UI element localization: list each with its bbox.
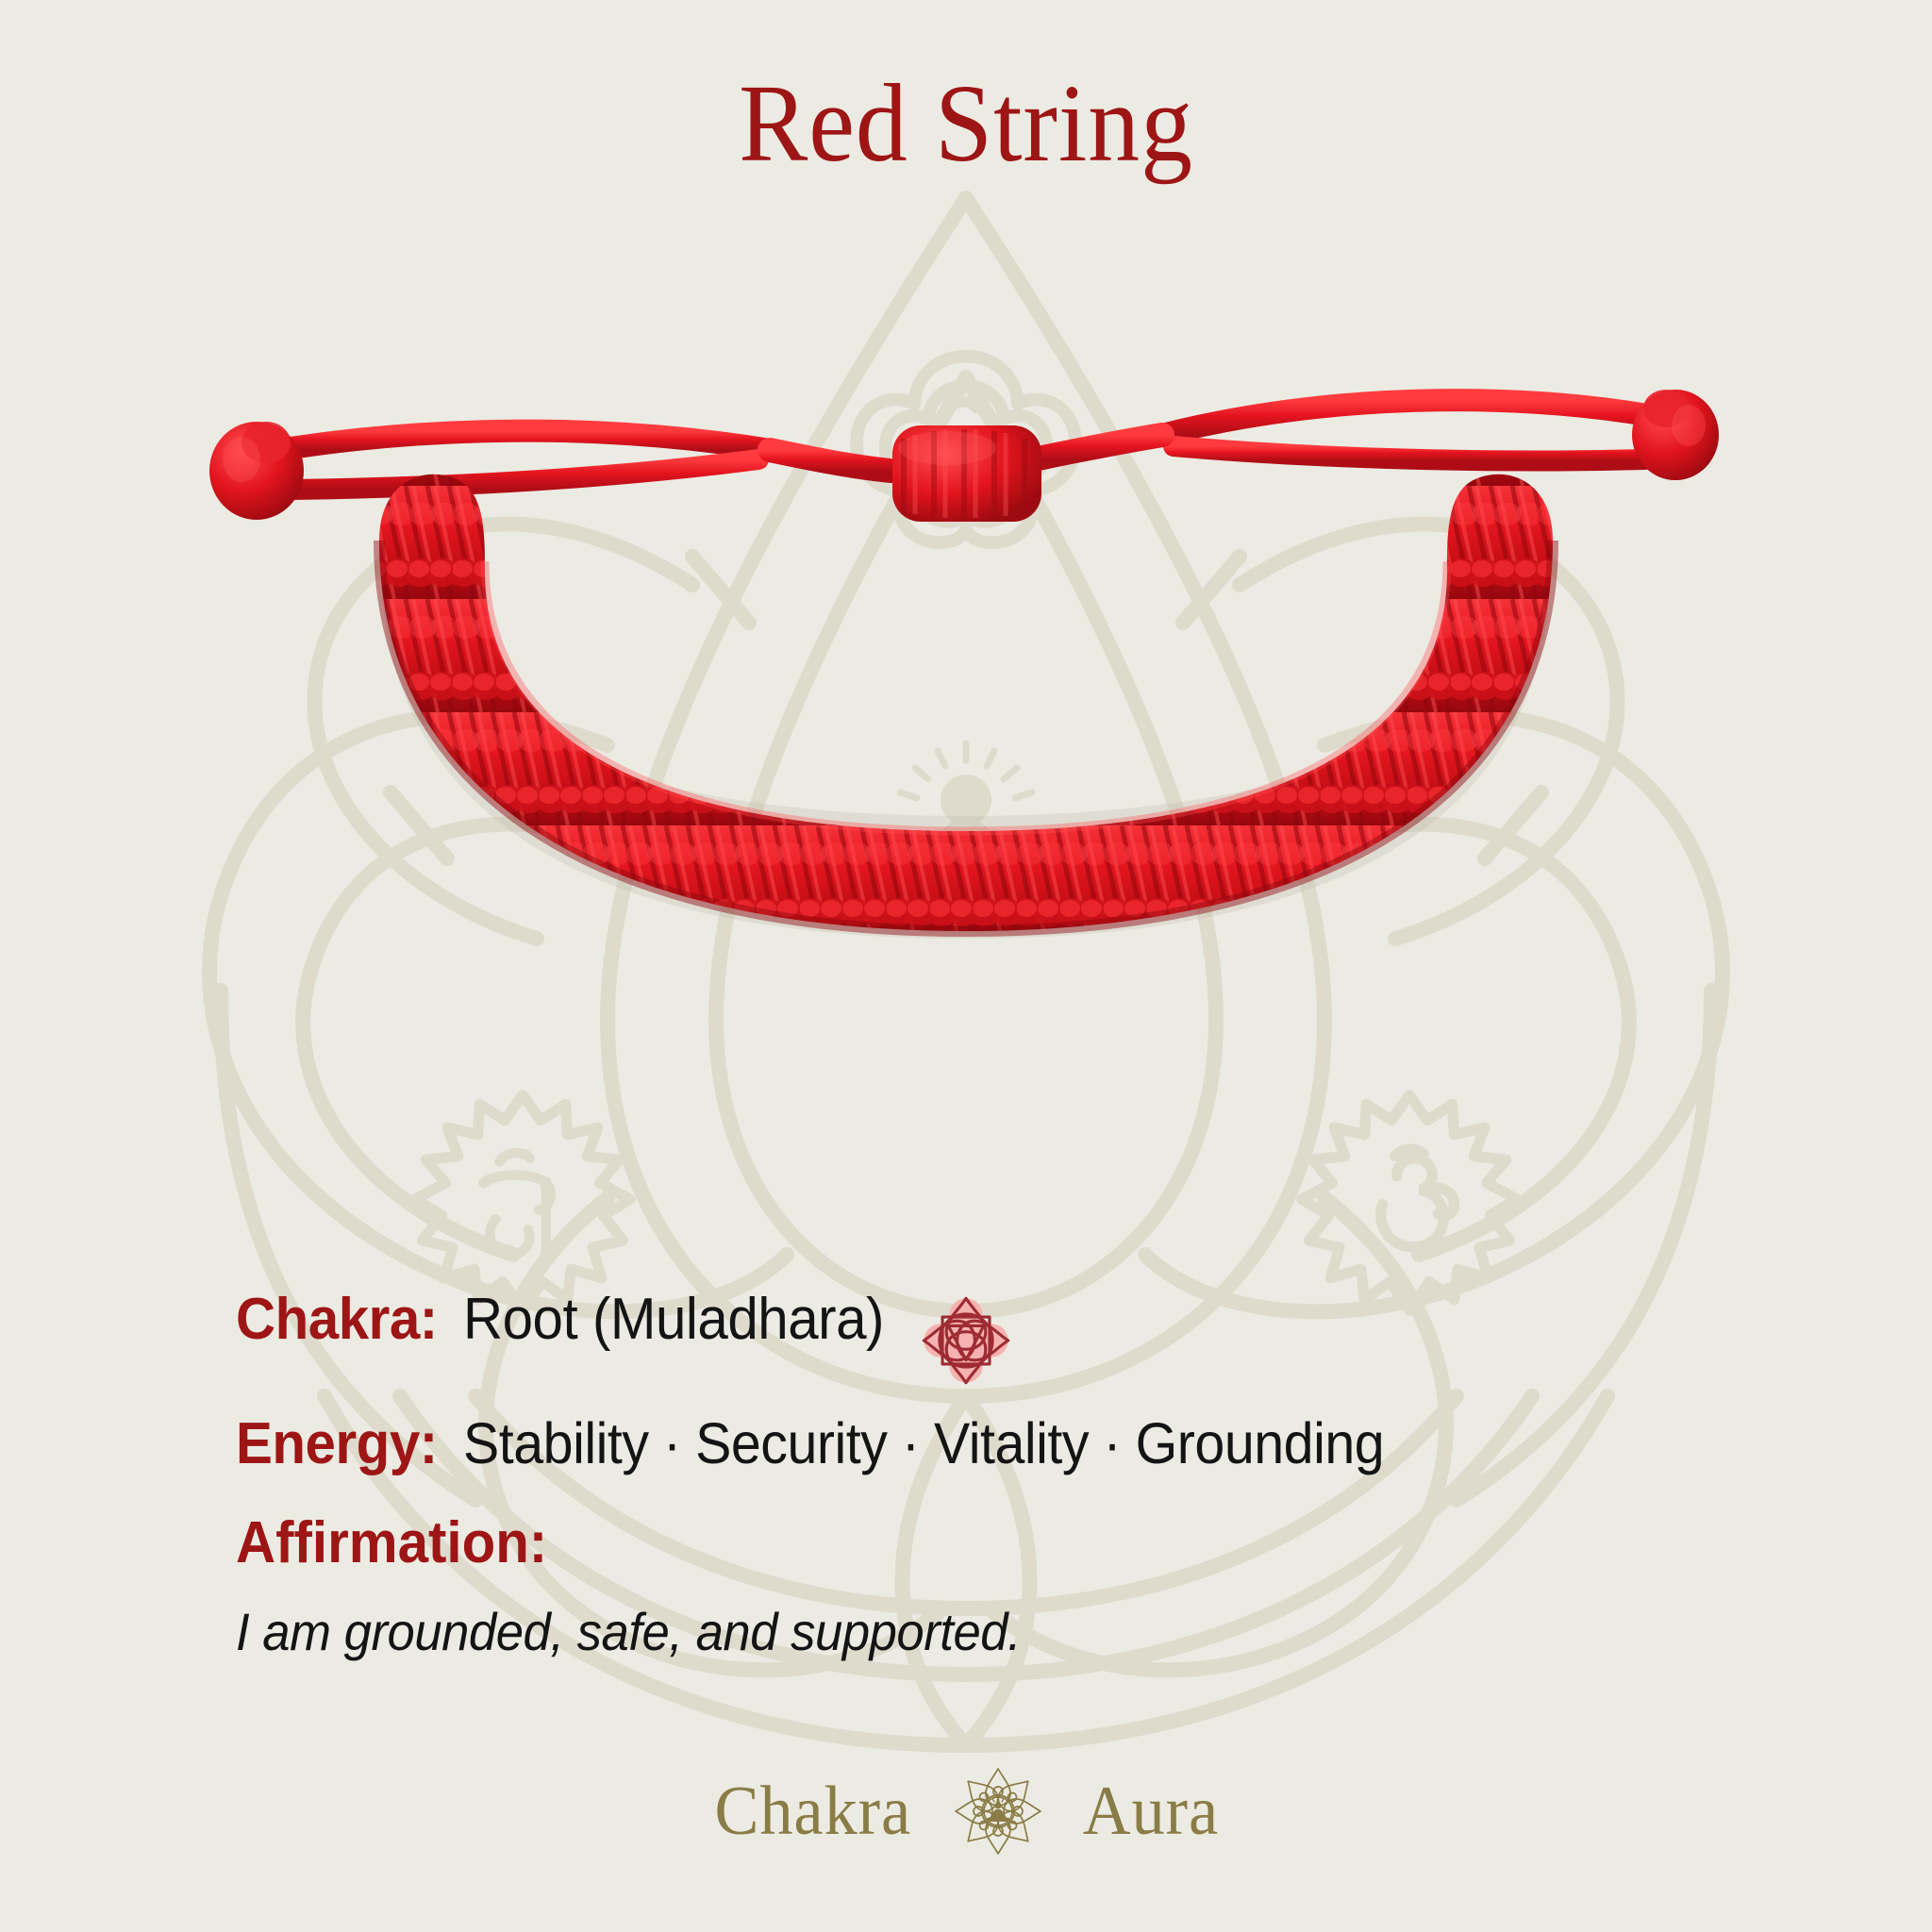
brand-name-second: Aura	[1083, 1772, 1219, 1852]
affirmation-label: Affirmation:	[236, 1509, 1619, 1576]
page-title: Red String	[68, 68, 1865, 179]
chakra-row: Chakra: Root (Muladhara)	[236, 1286, 1707, 1384]
muladhara-chakra-symbol	[917, 1291, 1015, 1390]
energy-label: Energy:	[236, 1410, 438, 1477]
bracelet-braided-band	[379, 475, 1553, 939]
chakra-label: Chakra:	[236, 1286, 438, 1353]
product-image-red-string-bracelet	[192, 373, 1740, 958]
watermark-chakra-badge-right-om	[1302, 1095, 1517, 1310]
product-attributes: Chakra: Root (Muladhara)	[236, 1286, 1707, 1662]
watermark-chakra-badge-left	[415, 1095, 630, 1310]
brand-footer: Chakra	[0, 1764, 1932, 1858]
product-info-card: Red String	[0, 0, 1932, 1932]
brand-name-first: Chakra	[715, 1772, 912, 1852]
affirmation-value: I am grounded, safe, and supported.	[236, 1601, 1619, 1662]
lotus-mandala-meditation-logo	[951, 1764, 1045, 1858]
bracelet-sliding-knot	[892, 425, 1041, 522]
chakra-value: Root (Muladhara)	[463, 1286, 884, 1353]
energy-value: Stability · Security · Vitality · Ground…	[463, 1410, 1384, 1476]
bracelet-end-knot-left	[209, 422, 304, 520]
bracelet-end-knot-right	[1632, 390, 1719, 480]
affirmation-row: Affirmation: I am grounded, safe, and su…	[236, 1509, 1707, 1662]
energy-row: Energy: Stability · Security · Vitality …	[236, 1410, 1707, 1477]
